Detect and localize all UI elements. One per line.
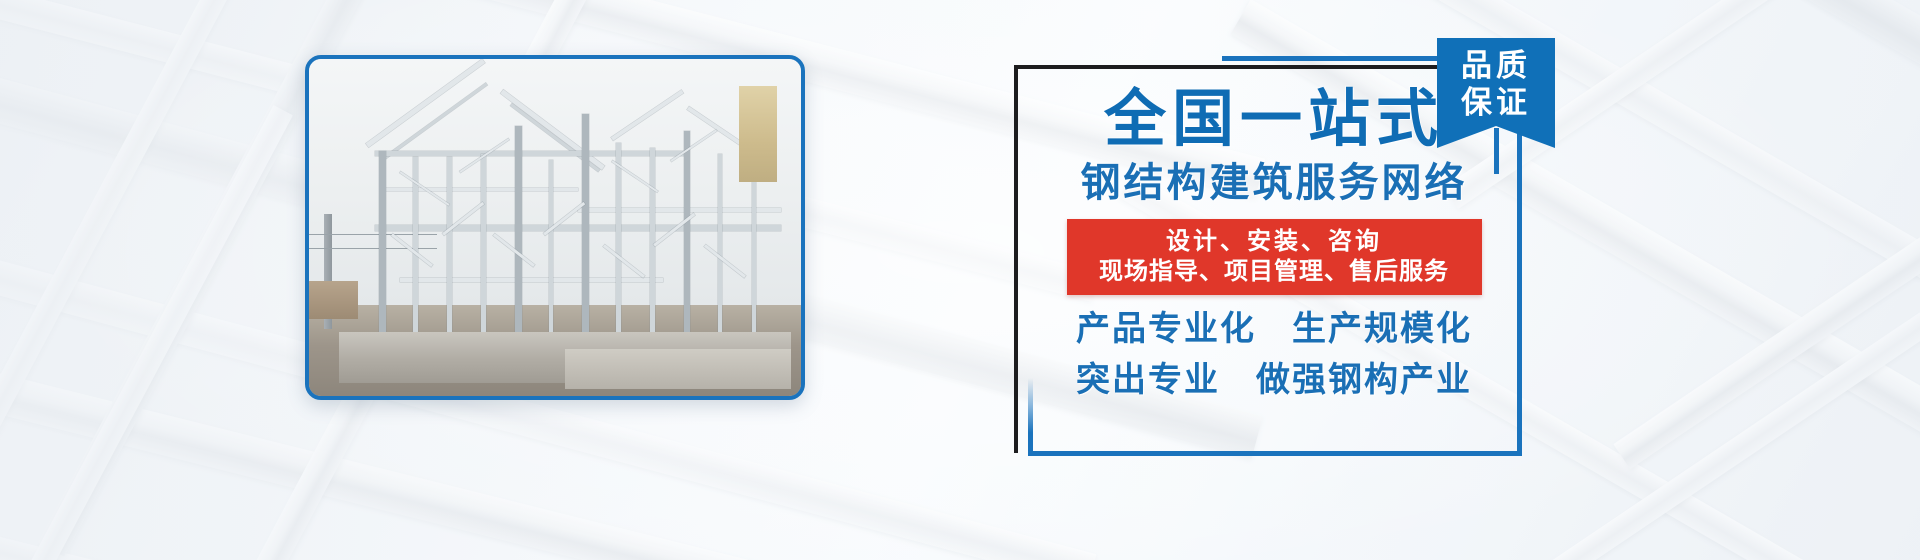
project-photo-card	[305, 55, 805, 400]
ribbon-stem	[1494, 128, 1499, 174]
frame-stud	[752, 154, 757, 344]
frame-brace	[704, 245, 746, 278]
frame-beam	[375, 151, 688, 156]
frame-stud	[447, 157, 452, 344]
page-subtitle: 钢结构建筑服务网络	[1081, 161, 1468, 205]
photo-concrete-foundation	[565, 349, 791, 389]
frame-stud	[718, 154, 723, 344]
badge-line-2: 保证	[1437, 85, 1555, 122]
slogan-line-2: 突出专业 做强钢构产业	[1076, 356, 1472, 405]
photo-house-steel-frame	[358, 86, 781, 369]
frame-stud	[684, 131, 690, 343]
badge-line-1: 品质	[1437, 48, 1555, 85]
promo-banner: 全国一站式 钢结构建筑服务网络 设计、安装、咨询 现场指导、项目管理、售后服务 …	[0, 0, 1920, 560]
frame-brace	[391, 233, 433, 266]
frame-stud	[379, 151, 385, 343]
slogan-line-1: 产品专业化 生产规模化	[1076, 305, 1472, 354]
frame-stud	[515, 126, 522, 344]
frame-stud	[582, 114, 589, 343]
frame-brace	[493, 233, 535, 266]
photo-shed	[309, 281, 358, 318]
frame-beam	[400, 278, 662, 281]
frame-stud	[616, 143, 621, 344]
steel-frame-house-photo	[309, 59, 801, 396]
services-line-2: 现场指导、项目管理、售后服务	[1073, 256, 1476, 286]
page-title: 全国一站式	[1104, 86, 1444, 151]
services-line-1: 设计、安装、咨询	[1073, 226, 1476, 256]
frame-stud	[549, 160, 554, 344]
photo-timber-panel	[739, 86, 777, 182]
frame-brace	[603, 245, 645, 278]
services-callout-box: 设计、安装、咨询 现场指导、项目管理、售后服务	[1067, 219, 1482, 295]
frame-brace	[671, 129, 718, 162]
background-vignette	[0, 0, 1920, 560]
panel-frame-blue-left-edge	[1028, 378, 1033, 456]
frame-stud	[481, 154, 486, 344]
frame-rafter	[611, 90, 683, 141]
